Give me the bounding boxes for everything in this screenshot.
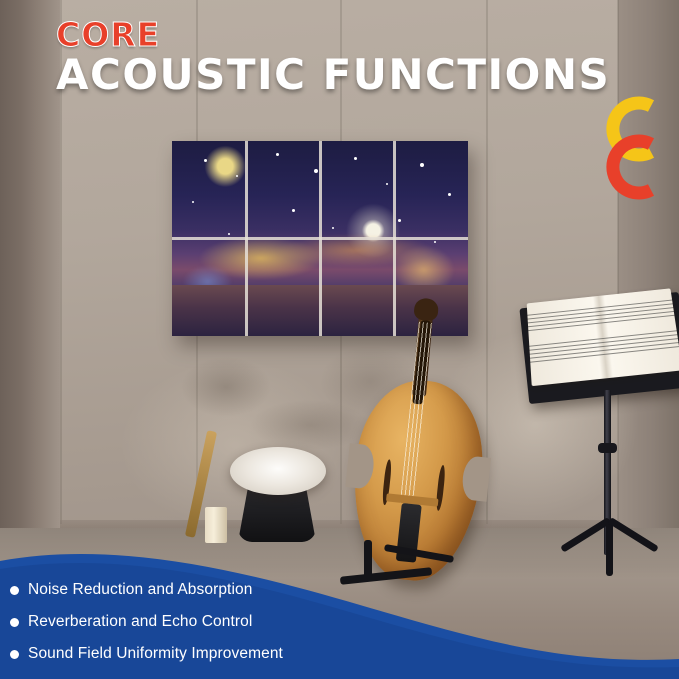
pillar-candle xyxy=(205,507,227,543)
star xyxy=(332,227,334,229)
product-lifestyle-image: CORE ACOUSTIC FUNCTIONS Noise Reduction … xyxy=(0,0,679,679)
star xyxy=(236,175,238,177)
music-stand-height-knob xyxy=(598,443,617,453)
headline-line-2: ACOUSTIC FUNCTIONS xyxy=(56,53,616,97)
list-item: Noise Reduction and Absorption xyxy=(10,581,430,599)
star xyxy=(228,233,230,235)
star xyxy=(398,219,401,222)
star xyxy=(292,209,295,212)
feature-list: Noise Reduction and Absorption Reverbera… xyxy=(10,581,430,663)
star xyxy=(204,159,207,162)
open-sheet-music-book xyxy=(527,288,679,386)
headline-block: CORE ACOUSTIC FUNCTIONS xyxy=(56,18,616,97)
star xyxy=(314,169,318,173)
music-stand-desk xyxy=(519,292,679,404)
bullet-dot-icon xyxy=(10,618,19,627)
left-wall-dark-panel xyxy=(0,0,36,560)
panel-gap xyxy=(172,237,468,240)
list-item: Reverberation and Echo Control xyxy=(10,613,430,631)
headline-line-1: CORE xyxy=(56,18,616,51)
bullet-dot-icon xyxy=(10,586,19,595)
brand-arc-logo xyxy=(599,92,661,202)
star xyxy=(434,241,436,243)
bullet-dot-icon xyxy=(10,650,19,659)
fur-stool-top xyxy=(230,447,326,495)
list-item: Sound Field Uniformity Improvement xyxy=(10,645,430,663)
feature-label: Noise Reduction and Absorption xyxy=(28,581,252,599)
cello-scroll xyxy=(413,297,439,321)
star xyxy=(386,183,388,185)
star xyxy=(354,157,357,160)
star xyxy=(192,201,194,203)
star xyxy=(276,153,279,156)
star xyxy=(448,193,451,196)
star xyxy=(420,163,424,167)
feature-label: Reverberation and Echo Control xyxy=(28,613,252,631)
feature-label: Sound Field Uniformity Improvement xyxy=(28,645,283,663)
